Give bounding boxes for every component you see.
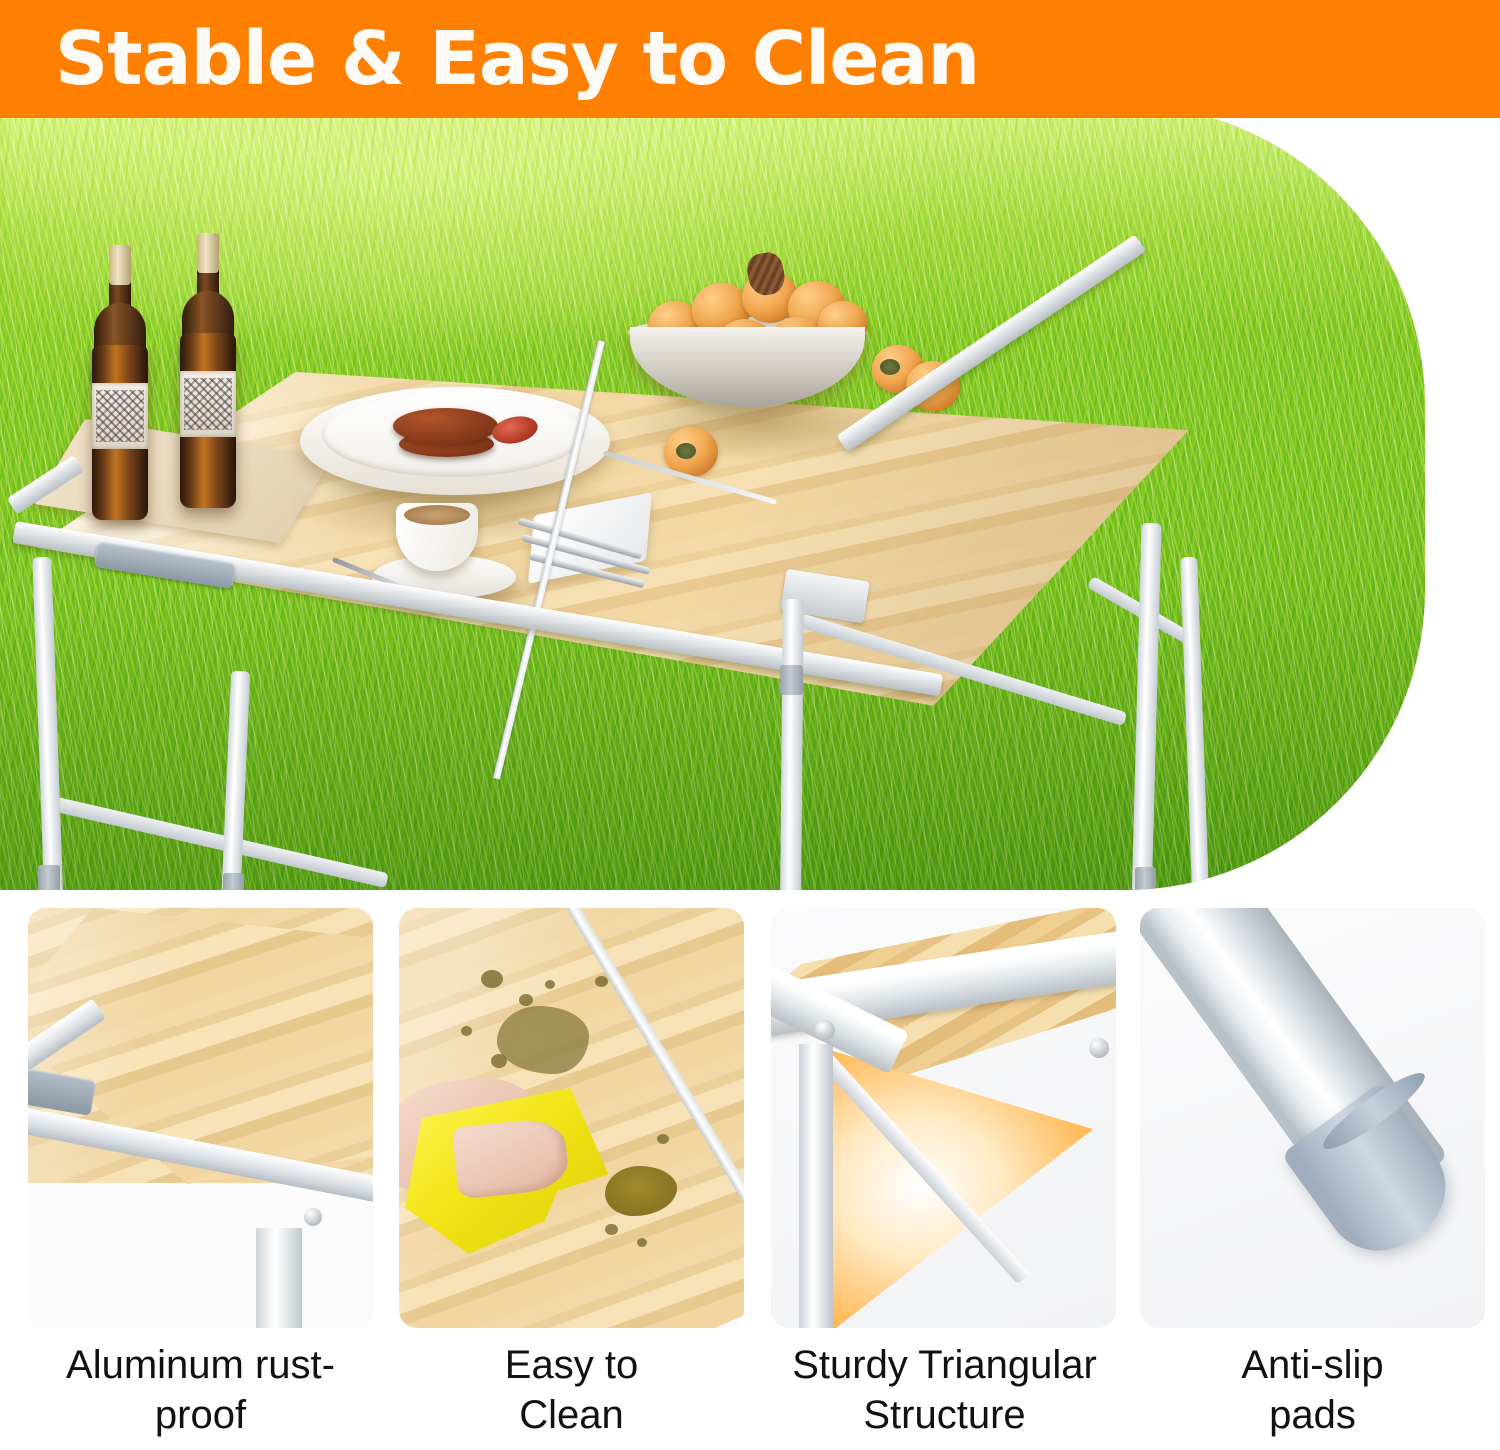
feature-image-easy-to-clean [399,908,744,1328]
feature-thumbnail-row [0,908,1500,1328]
page-title: Stable & Easy to Clean [55,16,979,102]
caption-easy-to-clean: Easy to Clean [399,1340,744,1440]
caption-line: Anti-slip [1140,1340,1485,1390]
caption-line: pads [1140,1390,1485,1440]
caption-line: Aluminum rust- [28,1340,373,1390]
screw-icon [1089,1038,1109,1058]
caption-line: Clean [399,1390,744,1440]
leg-height-collar [780,665,803,695]
feature-image-sturdy-triangular-structure [771,908,1116,1328]
spill-droplet [637,1238,647,1247]
caption-aluminum-rust-proof: Aluminum rust- proof [28,1340,373,1440]
table-leg [799,1044,833,1328]
product-feature-page: Stable & Easy to Clean [0,0,1500,1450]
table-leg [1180,557,1209,887]
table-leg [256,1228,302,1328]
screw-icon [815,1020,835,1040]
screw-icon [304,1208,322,1226]
leg-height-collar [223,873,244,890]
bottle-cap [197,233,219,273]
caption-line: Structure [762,1390,1127,1440]
spill-droplet [605,1224,618,1235]
spill-droplet [595,976,608,987]
table-leg [1131,523,1162,890]
leg-brace [46,795,388,888]
table-leg [32,557,66,890]
caption-line: proof [28,1390,373,1440]
caption-line: Easy to [399,1340,744,1390]
grilled-patty [393,408,498,444]
persimmon-calyx [880,359,900,375]
white-background [28,1183,373,1328]
spill-droplet [491,1054,507,1068]
leg-height-collar [1135,867,1156,890]
persimmon-calyx [676,443,696,459]
caption-line: Sturdy Triangular [762,1340,1127,1390]
spill-droplet [657,1134,669,1144]
header-banner: Stable & Easy to Clean [0,0,1500,118]
spill-droplet [519,994,533,1006]
bottle-cap [109,245,131,285]
leg-height-collar [38,865,60,890]
coffee-liquid [404,505,470,525]
feature-image-aluminum-rust-proof [28,908,373,1328]
caption-sturdy-triangular-structure: Sturdy Triangular Structure [762,1340,1127,1440]
bottle-label [92,383,148,449]
spill-droplet [461,1026,472,1036]
table-leg [779,599,803,890]
bottle-label [180,371,236,437]
caption-anti-slip-pads: Anti-slip pads [1140,1340,1485,1440]
hero-image [0,105,1425,890]
feature-image-anti-slip-pads [1140,908,1485,1328]
spill-droplet [545,980,555,989]
folding-table [0,105,1425,890]
table-leg [217,671,250,890]
spill-droplet [481,970,503,988]
feature-captions: Aluminum rust- proof Easy to Clean Sturd… [0,1340,1500,1450]
